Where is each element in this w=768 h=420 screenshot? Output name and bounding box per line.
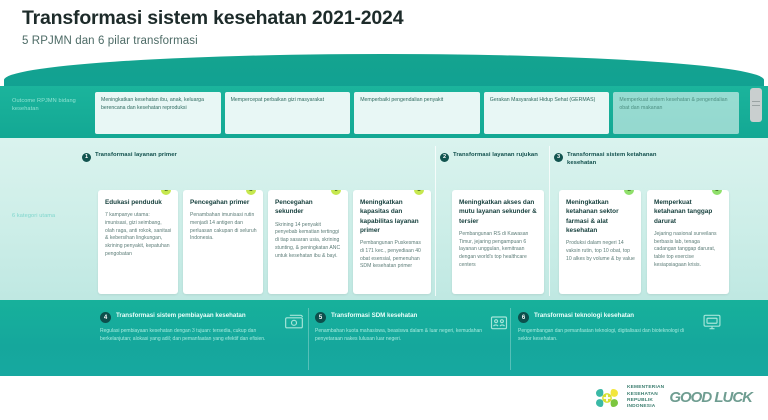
- column-divider: [549, 146, 550, 296]
- outcome-card[interactable]: Mempercepat perbaikan gizi masyarakat: [225, 92, 351, 134]
- page-title: Transformasi sistem kesehatan 2021-2024: [22, 8, 403, 29]
- roof-shape: [4, 54, 764, 90]
- pillar-number: 6: [518, 312, 529, 323]
- pillar-number: 4: [100, 312, 111, 323]
- card-title: Pencegahan primer: [190, 198, 257, 207]
- card-badge: d: [414, 190, 424, 195]
- ministry-line-4: INDONESIA: [627, 404, 664, 410]
- card-title: Meningkatkan ketahanan sektor farmasi & …: [566, 198, 635, 235]
- people-icon: [488, 312, 510, 332]
- card-title: Memperkuat ketahanan tanggap darurat: [654, 198, 723, 226]
- column-divider: [435, 146, 436, 296]
- pillar-number: 5: [315, 312, 326, 323]
- outcome-side-label: Outcome RPJMN bidang kesehatan: [12, 97, 86, 113]
- ministry-line-1: KEMENTERIAN: [627, 385, 664, 391]
- outcome-card[interactable]: Memperbaiki pengendalian penyakit: [354, 92, 480, 134]
- header: Transformasi sistem kesehatan 2021-2024 …: [22, 8, 403, 47]
- card-body: Produksi dalam negeri 14 vaksin rutin, t…: [566, 240, 635, 263]
- pillar-header-5: 5 Transformasi SDM kesehatan: [315, 312, 510, 323]
- pillar-header-1[interactable]: 1 Transformasi layanan primer: [82, 152, 282, 162]
- pillar-card[interactable]: Meningkatkan akses dan mutu layanan seku…: [452, 190, 544, 294]
- pillar-card[interactable]: c Pencegahan sekunder Skrining 14 penyak…: [268, 190, 348, 294]
- pillar-body: Pengembangan dan pemanfaatan teknologi, …: [518, 328, 693, 344]
- column-divider: [510, 308, 511, 370]
- outcome-card[interactable]: Memperkuat sistem kesehatan & pengendali…: [613, 92, 739, 134]
- card-body: Pembangunan RS di Kawasan Timur, jejarin…: [459, 231, 538, 270]
- watermark-text: GOOD LUCK: [669, 392, 752, 405]
- card-body: Pembangunan Puskesmas di 171 kec., penye…: [360, 240, 425, 271]
- card-badge: c: [331, 190, 341, 195]
- pillar-header-4: 4 Transformasi sistem pembiayaan kesehat…: [100, 312, 305, 323]
- card-badge: b: [246, 190, 256, 195]
- card-body: Skrining 14 penyakit penyebab kematian t…: [275, 222, 342, 261]
- pillar-title: Transformasi teknologi kesehatan: [534, 312, 634, 320]
- card-badge: a: [624, 190, 634, 195]
- footer: KEMENTERIAN KESEHATAN REPUBLIK INDONESIA…: [592, 384, 752, 412]
- kemkes-logo-icon: [592, 384, 622, 412]
- scrollbar-handle[interactable]: [750, 88, 762, 122]
- pillar-card[interactable]: b Pencegahan primer Penambahan imunisasi…: [183, 190, 263, 294]
- pillar-number: 2: [440, 153, 449, 162]
- pillar-number: 3: [554, 153, 563, 162]
- card-title: Meningkatkan kapasitas dan kapabilitas l…: [360, 198, 425, 235]
- card-body: 7 kampanye utama: imunisasi, gizi seimba…: [105, 212, 172, 258]
- outcome-row: Meningkatkan kesehatan ibu, anak, keluar…: [95, 92, 739, 134]
- pillar-title: Transformasi layanan primer: [95, 152, 177, 160]
- pillar-number: 1: [82, 153, 91, 162]
- vision-roof: visi Sejalan dengan visi Presiden untuk …: [0, 52, 768, 90]
- pillar-header-3[interactable]: 3 Transformasi sistem ketahanan kesehata…: [554, 152, 684, 168]
- card-body: Penambahan imunisasi rutin menjadi 14 an…: [190, 212, 257, 243]
- pillar-body: Regulasi pembiayaan kesehatan dengan 3 t…: [100, 328, 275, 344]
- pillar-card[interactable]: b Memperkuat ketahanan tanggap darurat J…: [647, 190, 729, 294]
- infographic-canvas: Transformasi sistem kesehatan 2021-2024 …: [0, 0, 768, 420]
- pillar-title: Transformasi sistem pembiayaan kesehatan: [116, 312, 246, 320]
- pillar-title: Transformasi sistem ketahanan kesehatan: [567, 152, 684, 168]
- card-badge: a: [161, 190, 171, 195]
- card-title: Meningkatkan akses dan mutu layanan seku…: [459, 198, 538, 226]
- pillar-card[interactable]: d Meningkatkan kapasitas dan kapabilitas…: [353, 190, 431, 294]
- page-subtitle: 5 RPJMN dan 6 pilar transformasi: [22, 35, 403, 47]
- ministry-name: KEMENTERIAN KESEHATAN REPUBLIK INDONESIA: [627, 385, 664, 411]
- outcome-card[interactable]: Meningkatkan kesehatan ibu, anak, keluar…: [95, 92, 221, 134]
- pillar-header-6: 6 Transformasi teknologi kesehatan: [518, 312, 723, 323]
- monitor-icon: [701, 312, 723, 332]
- pillar-body: Penambahan kuota mahasiswa, beasiswa dal…: [315, 328, 490, 344]
- pillar-card[interactable]: a Meningkatkan ketahanan sektor farmasi …: [559, 190, 641, 294]
- pillar-block-4[interactable]: 4 Transformasi sistem pembiayaan kesehat…: [100, 312, 305, 344]
- pillar-block-5[interactable]: 5 Transformasi SDM kesehatan Penambahan …: [315, 312, 510, 344]
- pillar-header-2[interactable]: 2 Transformasi layanan rujukan: [440, 152, 540, 162]
- pillar-title: Transformasi layanan rujukan: [453, 152, 538, 160]
- pillar-title: Transformasi SDM kesehatan: [331, 312, 417, 320]
- pillars-side-label: 6 kategori utama: [12, 212, 86, 220]
- card-body: Jejaring nasional surveilans berbasis la…: [654, 231, 723, 270]
- pillar-card[interactable]: a Edukasi penduduk 7 kampanye utama: imu…: [98, 190, 178, 294]
- column-divider: [308, 308, 309, 370]
- outcome-card[interactable]: Gerakan Masyarakat Hidup Sehat (GERMAS): [484, 92, 610, 134]
- money-icon: [283, 312, 305, 332]
- card-title: Edukasi penduduk: [105, 198, 172, 207]
- pillar-block-6[interactable]: 6 Transformasi teknologi kesehatan Penge…: [518, 312, 723, 344]
- card-title: Pencegahan sekunder: [275, 198, 342, 217]
- card-badge: b: [712, 190, 722, 195]
